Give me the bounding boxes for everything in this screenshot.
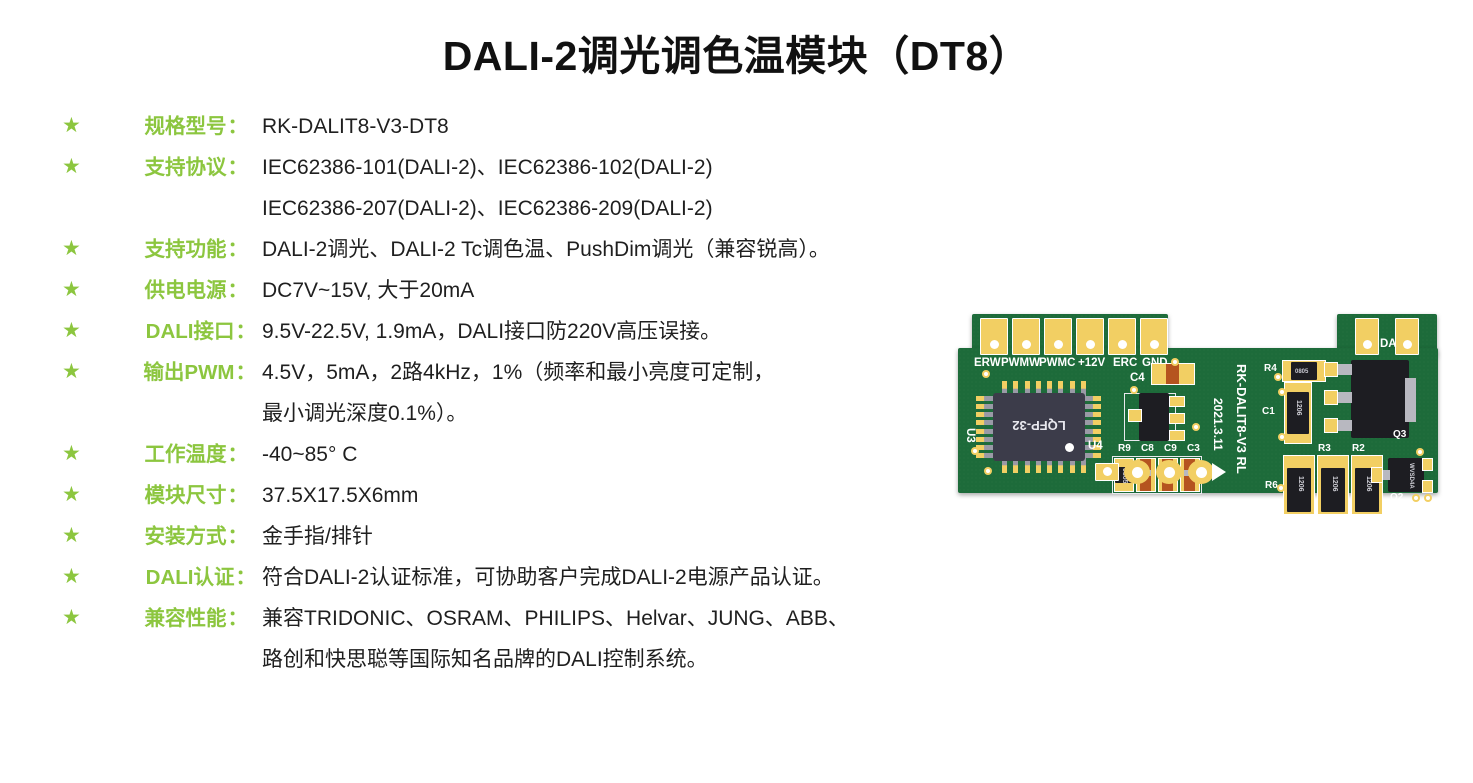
spec-label-colon: ：	[236, 361, 257, 384]
silk-label-r2: R2	[1352, 443, 1365, 455]
spec-label-colon: ：	[228, 484, 249, 507]
spec-value: 37.5X17.5X6mm	[248, 481, 1022, 510]
spec-label: 工作温度：	[96, 440, 248, 469]
spec-label-text: 模块尺寸	[145, 484, 227, 507]
spec-label: 输出PWM：	[96, 358, 256, 387]
star-icon: ★	[62, 443, 81, 464]
lead	[976, 420, 994, 425]
pad-hole	[1363, 340, 1372, 349]
lead	[976, 404, 994, 409]
lead	[976, 437, 994, 442]
spec-value: 金手指/排针	[248, 522, 1022, 551]
via	[971, 447, 979, 455]
via	[1192, 423, 1200, 431]
bottom-pad-round-1	[1124, 460, 1150, 484]
spec-label: 兼容性能：	[96, 604, 248, 633]
silk-label-c9: C9	[1164, 443, 1177, 455]
star-cell: ★	[62, 522, 96, 547]
spec-row-compatibility-cont: ★ 路创和快思聪等国际知名品牌的DALI控制系统。	[62, 645, 1022, 686]
spec-row-pwm-output: ★ 输出PWM： 4.5V，5mA，2路4kHz，1%（频率和最小亮度可定制，	[62, 358, 1022, 399]
spec-label: 支持协议：	[96, 153, 248, 182]
spec-label-colon: ：	[228, 525, 249, 548]
spec-label-text: 兼容性能	[145, 607, 227, 630]
q3-pad-1	[1324, 362, 1338, 377]
spec-value: DALI-2调光、DALI-2 Tc调色温、PushDim调光（兼容锐高）。	[248, 235, 1022, 264]
spec-label-colon: ：	[228, 279, 249, 302]
via	[1171, 358, 1179, 366]
silk-label-pwmw: PWMW	[1001, 357, 1040, 369]
via-hole	[973, 449, 977, 453]
silk-label-q3: Q3	[1393, 429, 1406, 441]
q2-marking: WVSD4A	[1408, 463, 1414, 489]
bottom-pad-square	[1095, 463, 1119, 481]
via	[1130, 386, 1138, 394]
star-icon: ★	[62, 279, 81, 300]
q3-tab-lead	[1405, 378, 1416, 422]
spec-value: 4.5V，5mA，2路4kHz，1%（频率和最小亮度可定制，	[256, 358, 1022, 387]
star-icon: ★	[62, 238, 81, 259]
lead	[976, 429, 994, 434]
silk-date-code: 2021.3.11	[1212, 398, 1224, 451]
q3-pad-2	[1324, 390, 1338, 405]
spec-label: 安装方式：	[96, 522, 248, 551]
spec-label-colon: ：	[228, 115, 249, 138]
star-icon: ★	[62, 566, 81, 587]
spec-label-text: 规格型号	[145, 115, 227, 138]
da-pad-right	[1395, 318, 1419, 355]
q2-pad-3	[1422, 480, 1433, 493]
spec-label-text: 支持功能	[145, 238, 227, 261]
via-hole	[1279, 486, 1283, 490]
via-hole	[1418, 450, 1422, 454]
u4-regulator-body	[1139, 393, 1169, 441]
spec-label-text: DALI认证	[146, 566, 235, 589]
spec-row-protocol: ★ 支持协议： IEC62386-101(DALI-2)、IEC62386-10…	[62, 153, 1022, 194]
star-cell-placeholder: ★	[62, 645, 96, 670]
silk-label-12v: +12V	[1078, 357, 1105, 369]
spec-row-dali-certification: ★ DALI认证： 符合DALI-2认证标准，可协助客户完成DALI-2电源产品…	[62, 563, 1022, 604]
c4-capacitor-body	[1166, 364, 1179, 384]
lead	[1083, 396, 1101, 401]
spec-row-power-supply: ★ 供电电源： DC7V~15V, 大于20mA	[62, 276, 1022, 317]
c1-marking: 1206	[1295, 400, 1302, 416]
pad-hole	[1118, 340, 1127, 349]
spec-value: IEC62386-101(DALI-2)、IEC62386-102(DALI-2…	[248, 153, 1022, 182]
spec-label-text: 支持协议	[145, 156, 227, 179]
spec-label-text: 输出PWM	[143, 361, 234, 384]
spec-label-text: 工作温度	[145, 443, 227, 466]
mcu-pin1-dot	[1065, 443, 1074, 452]
via-hole	[1280, 390, 1284, 394]
star-cell-placeholder: ★	[62, 399, 96, 424]
spec-label-colon: ：	[228, 607, 249, 630]
spec-row-function: ★ 支持功能： DALI-2调光、DALI-2 Tc调色温、PushDim调光（…	[62, 235, 1022, 276]
spec-row-compatibility: ★ 兼容性能： 兼容TRIDONIC、OSRAM、PHILIPS、Helvar、…	[62, 604, 1022, 645]
silk-label-u4: U4	[1088, 440, 1103, 452]
star-cell: ★	[62, 276, 96, 301]
star-icon: ★	[62, 525, 81, 546]
spec-label: 供电电源：	[96, 276, 248, 305]
star-cell: ★	[62, 235, 96, 260]
q2-transistor-body	[1388, 458, 1424, 492]
spec-row-mounting: ★ 安装方式： 金手指/排针	[62, 522, 1022, 563]
via-hole	[1426, 496, 1430, 500]
via-hole	[984, 372, 988, 376]
spec-row-operating-temperature: ★ 工作温度： -40~85° C	[62, 440, 1022, 481]
star-cell: ★	[62, 604, 96, 629]
spec-label-colon: ：	[228, 156, 249, 179]
pad-hole	[1103, 467, 1112, 476]
spec-label: 支持功能：	[96, 235, 248, 264]
via	[1278, 388, 1286, 396]
silk-label-r9: R9	[1118, 443, 1131, 455]
via-hole	[1280, 435, 1284, 439]
r4-marking: 0805	[1295, 366, 1308, 378]
star-icon: ★	[62, 320, 81, 341]
lead	[976, 396, 994, 401]
lead	[1083, 420, 1101, 425]
edge-pad-12v	[1076, 318, 1104, 355]
silk-label-erc: ERC	[1113, 357, 1137, 369]
star-icon: ★	[62, 115, 81, 136]
via-hole	[1414, 496, 1418, 500]
specification-list: ★ 规格型号： RK-DALIT8-V3-DT8 ★ 支持协议： IEC6238…	[62, 112, 1022, 686]
silk-label-c3: C3	[1187, 443, 1200, 455]
via	[1278, 433, 1286, 441]
spec-value-continued: IEC62386-207(DALI-2)、IEC62386-209(DALI-2…	[248, 194, 1022, 223]
silk-label-pwmc: PWMC	[1039, 357, 1075, 369]
silk-label-u3: U3	[964, 428, 976, 443]
bottom-pad-round-3	[1188, 460, 1214, 484]
via-hole	[986, 469, 990, 473]
star-cell: ★	[62, 317, 96, 342]
via-hole	[1194, 425, 1198, 429]
star-cell: ★	[62, 153, 96, 178]
spec-value: RK-DALIT8-V3-DT8	[248, 112, 1022, 141]
silk-label-r3: R3	[1318, 443, 1331, 455]
silk-label-da: DA	[1380, 338, 1397, 350]
via	[1416, 448, 1424, 456]
q3-pad-3	[1324, 418, 1338, 433]
page-title: DALI-2调光调色温模块（DT8）	[0, 22, 1473, 82]
silk-label-c1: C1	[1262, 406, 1275, 418]
lead	[1083, 412, 1101, 417]
star-icon: ★	[62, 156, 81, 177]
silk-part-number: RK-DALIT8-V3 RL	[1235, 364, 1247, 474]
pad-hole	[990, 340, 999, 349]
spec-row-protocol-cont: ★ IEC62386-207(DALI-2)、IEC62386-209(DALI…	[62, 194, 1022, 235]
lead	[1083, 429, 1101, 434]
spec-value: 符合DALI-2认证标准，可协助客户完成DALI-2电源产品认证。	[256, 563, 1022, 592]
spec-value: DC7V~15V, 大于20mA	[248, 276, 1022, 305]
spec-label: DALI接口：	[96, 317, 256, 346]
pad-hole	[1022, 340, 1031, 349]
spec-row-model: ★ 规格型号： RK-DALIT8-V3-DT8	[62, 112, 1022, 153]
spec-label-colon: ：	[228, 443, 249, 466]
star-cell: ★	[62, 440, 96, 465]
star-cell: ★	[62, 481, 96, 506]
pad-hole	[1132, 467, 1143, 478]
u4-pad-3	[1169, 430, 1185, 441]
edge-pad-pwmc	[1044, 318, 1072, 355]
q2-pad-2	[1422, 458, 1433, 471]
silk-label-c4: C4	[1130, 372, 1145, 384]
spec-row-pwm-output-cont: ★ 最小调光深度0.1%）。	[62, 399, 1022, 440]
u4-tab-pad	[1128, 409, 1142, 422]
star-cell: ★	[62, 358, 96, 383]
pad-hole	[1054, 340, 1063, 349]
spec-label: DALI认证：	[96, 563, 256, 592]
silk-label-q2: Q2	[1390, 492, 1403, 504]
pad-hole	[1403, 340, 1412, 349]
pad-hole	[1086, 340, 1095, 349]
edge-pad-gnd	[1140, 318, 1168, 355]
via	[1412, 494, 1420, 502]
via	[982, 370, 990, 378]
lead	[976, 453, 994, 458]
u4-pad-1	[1169, 396, 1185, 407]
spec-label-colon: ：	[236, 566, 257, 589]
bottom-pad-round-2	[1156, 460, 1182, 484]
star-cell-placeholder: ★	[62, 194, 96, 219]
spec-value: 兼容TRIDONIC、OSRAM、PHILIPS、Helvar、JUNG、ABB…	[248, 604, 1022, 633]
lead	[976, 412, 994, 417]
via-hole	[1132, 388, 1136, 392]
u4-pad-2	[1169, 413, 1185, 424]
q2-pad-1	[1371, 467, 1383, 483]
q3-transistor-body	[1351, 360, 1409, 438]
via-hole	[1276, 375, 1280, 379]
spec-label-text: 供电电源	[145, 279, 227, 302]
spec-row-dimensions: ★ 模块尺寸： 37.5X17.5X6mm	[62, 481, 1022, 522]
silk-label-erw: ERW	[974, 357, 1001, 369]
spec-label-colon: ：	[228, 238, 249, 261]
via	[984, 467, 992, 475]
spec-label: 模块尺寸：	[96, 481, 248, 510]
pcb-product-image: ERW PWMW PWMC +12V ERC GND DA LQFP-32 U3…	[952, 300, 1452, 550]
star-icon: ★	[62, 361, 81, 382]
via	[1424, 494, 1432, 502]
lead	[1083, 453, 1101, 458]
spec-label-text: 安装方式	[145, 525, 227, 548]
polarity-triangle-marker	[1212, 463, 1226, 481]
via	[1277, 484, 1285, 492]
spec-value-continued: 路创和快思聪等国际知名品牌的DALI控制系统。	[248, 645, 1022, 674]
spec-label-colon: ：	[236, 320, 257, 343]
star-icon: ★	[62, 484, 81, 505]
spec-label-text: DALI接口	[146, 320, 235, 343]
spec-value-continued: 最小调光深度0.1%）。	[248, 399, 1022, 428]
silk-label-c8: C8	[1141, 443, 1154, 455]
r6-marking: 1206	[1297, 476, 1304, 492]
r3-marking: 1206	[1331, 476, 1338, 492]
pad-hole	[1164, 467, 1175, 478]
pad-hole	[1196, 467, 1207, 478]
star-cell: ★	[62, 563, 96, 588]
via	[1274, 373, 1282, 381]
lead	[1083, 404, 1101, 409]
mcu-marking: LQFP-32	[1004, 418, 1074, 433]
spec-label: 规格型号：	[96, 112, 248, 141]
edge-pad-erc	[1108, 318, 1136, 355]
via-hole	[1173, 360, 1177, 364]
star-icon: ★	[62, 607, 81, 628]
silk-label-r6: R6	[1265, 480, 1278, 492]
da-pad-left	[1355, 318, 1379, 355]
pad-hole	[1150, 340, 1159, 349]
spec-value: 9.5V-22.5V, 1.9mA，DALI接口防220V高压误接。	[256, 317, 1022, 346]
edge-pad-pwmw	[1012, 318, 1040, 355]
spec-row-dali-interface: ★ DALI接口： 9.5V-22.5V, 1.9mA，DALI接口防220V高…	[62, 317, 1022, 358]
edge-pad-erw	[980, 318, 1008, 355]
spec-value: -40~85° C	[248, 440, 1022, 469]
star-cell: ★	[62, 112, 96, 137]
